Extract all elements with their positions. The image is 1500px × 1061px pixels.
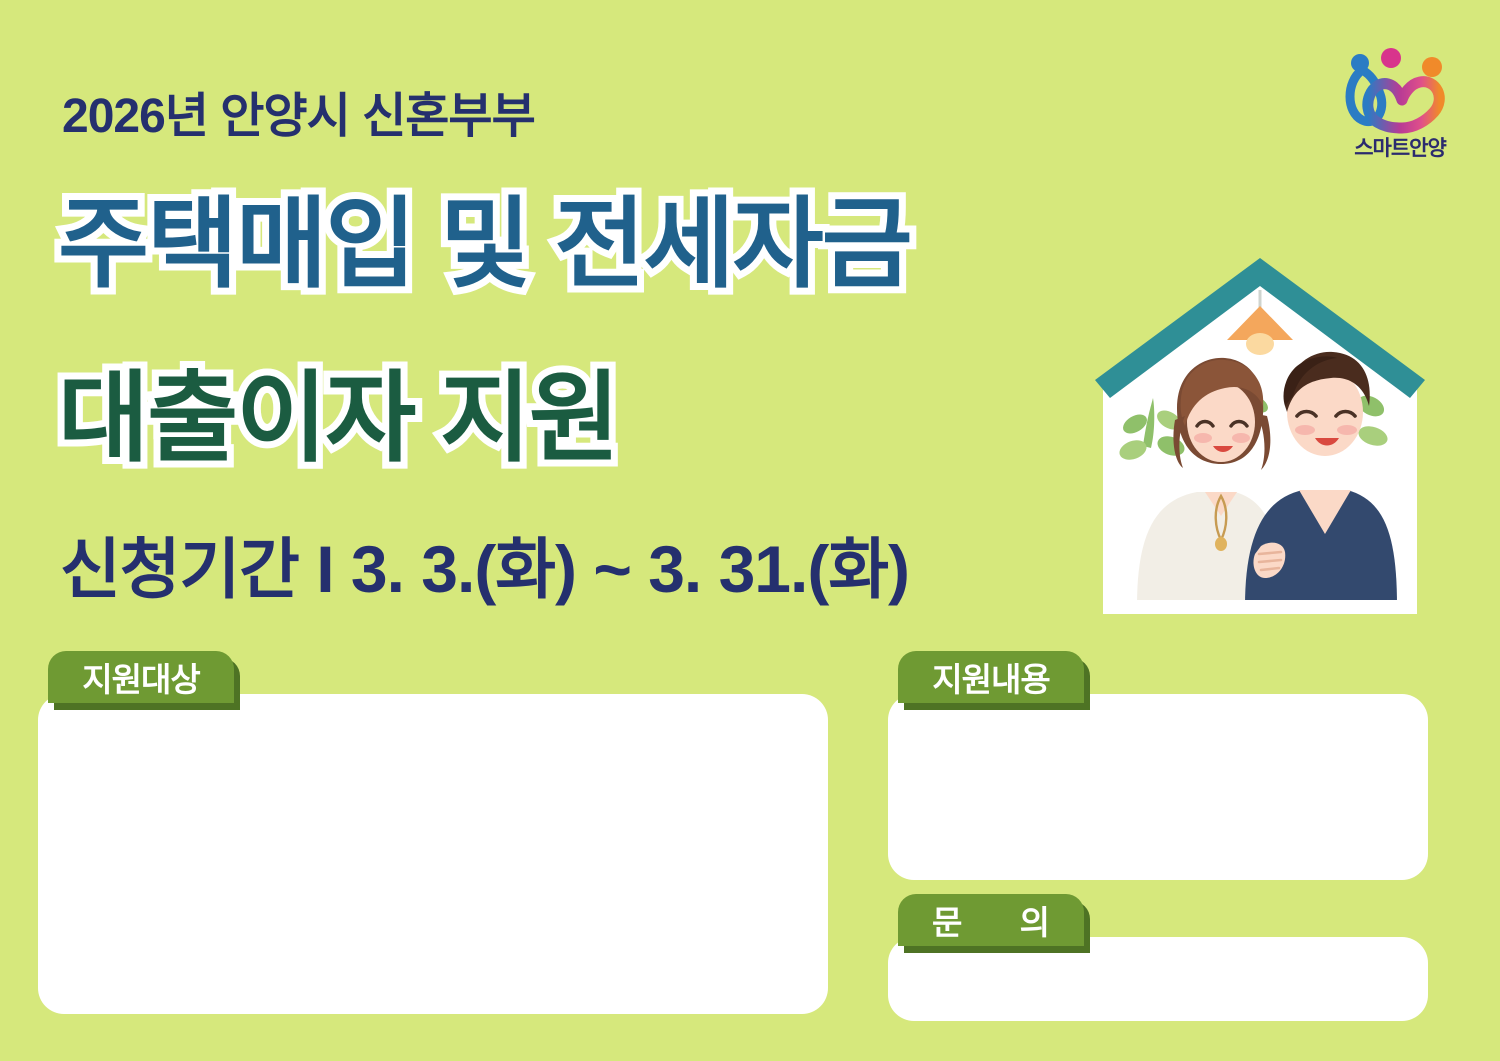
logo-mark-icon [1330, 36, 1470, 136]
logo-text: 스마트안양 [1330, 132, 1470, 162]
card-support-target [38, 694, 828, 1014]
eyebrow-text: 2026년 안양시 신혼부부 [62, 76, 535, 146]
smart-anyang-logo: 스마트안양 [1330, 36, 1470, 164]
tab-support-target[interactable]: 지원대상 [48, 651, 234, 703]
tab-support-content[interactable]: 지원내용 [898, 651, 1084, 703]
card-inquiry [888, 937, 1428, 1021]
card-support-content [888, 694, 1428, 880]
page-title-line1: 주택매입 및 전세자금 [58, 163, 911, 307]
poster-root: 2026년 안양시 신혼부부 주택매입 및 전세자금 대출이자 지원 신청기간 … [0, 0, 1500, 1061]
tab-inquiry[interactable]: 문 의 [898, 894, 1084, 946]
page-title-line2: 대출이자 지원 [58, 337, 618, 481]
application-period: 신청기간 I 3. 3.(화) ~ 3. 31.(화) [60, 516, 909, 612]
couple-in-house-illustration [1085, 248, 1435, 620]
